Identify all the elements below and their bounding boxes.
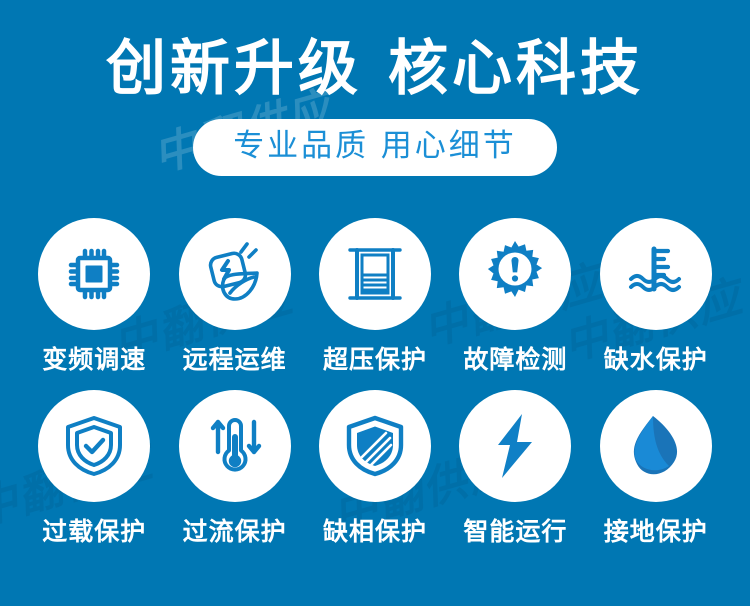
feature-label: 智能运行: [463, 512, 567, 548]
feature-item[interactable]: 过流保护: [164, 390, 304, 548]
feature-label: 缺水保护: [604, 340, 708, 376]
feature-item[interactable]: 超压保护: [305, 218, 445, 376]
feature-item[interactable]: 缺水保护: [586, 218, 726, 376]
press-icon: [319, 218, 431, 330]
feature-item[interactable]: 故障检测: [445, 218, 585, 376]
feature-item[interactable]: 缺相保护: [305, 390, 445, 548]
feature-label: 远程运维: [183, 340, 287, 376]
feature-item[interactable]: 接地保护: [586, 390, 726, 548]
feature-label: 接地保护: [604, 512, 708, 548]
feature-item[interactable]: 智能运行: [445, 390, 585, 548]
leaf-icon: [600, 390, 712, 502]
banner-header: 创新升级核心科技 专业品质 用心细节: [0, 0, 750, 176]
feature-item[interactable]: 远程运维: [164, 218, 304, 376]
feature-label: 过载保护: [42, 512, 146, 548]
title-part-1: 创新升级: [106, 35, 362, 102]
title-part-2: 核心科技: [388, 35, 644, 102]
feature-item[interactable]: 变频调速: [24, 218, 164, 376]
plug-leaf-icon: [179, 218, 291, 330]
page-title: 创新升级核心科技: [0, 0, 750, 103]
shield-stripes-icon: [319, 390, 431, 502]
feature-label: 缺相保护: [323, 512, 427, 548]
feature-label: 过流保护: [183, 512, 287, 548]
feature-label: 超压保护: [323, 340, 427, 376]
shield-check-icon: [38, 390, 150, 502]
water-level-icon: [600, 218, 712, 330]
feature-label: 故障检测: [463, 340, 567, 376]
feature-grid: 变频调速 远程运维: [0, 218, 750, 548]
lightning-bolt-icon: [459, 390, 571, 502]
subtitle-badge: 专业品质 用心细节: [193, 119, 557, 176]
promo-banner: 中翻供应 中翻供应 中翻供应 中翻供应 中翻供应 中翻供应 创新升级核心科技 专…: [0, 0, 750, 606]
chip-icon: [38, 218, 150, 330]
thermometer-arrows-icon: [179, 390, 291, 502]
feature-item[interactable]: 过载保护: [24, 390, 164, 548]
gear-alert-icon: [459, 218, 571, 330]
feature-label: 变频调速: [42, 340, 146, 376]
